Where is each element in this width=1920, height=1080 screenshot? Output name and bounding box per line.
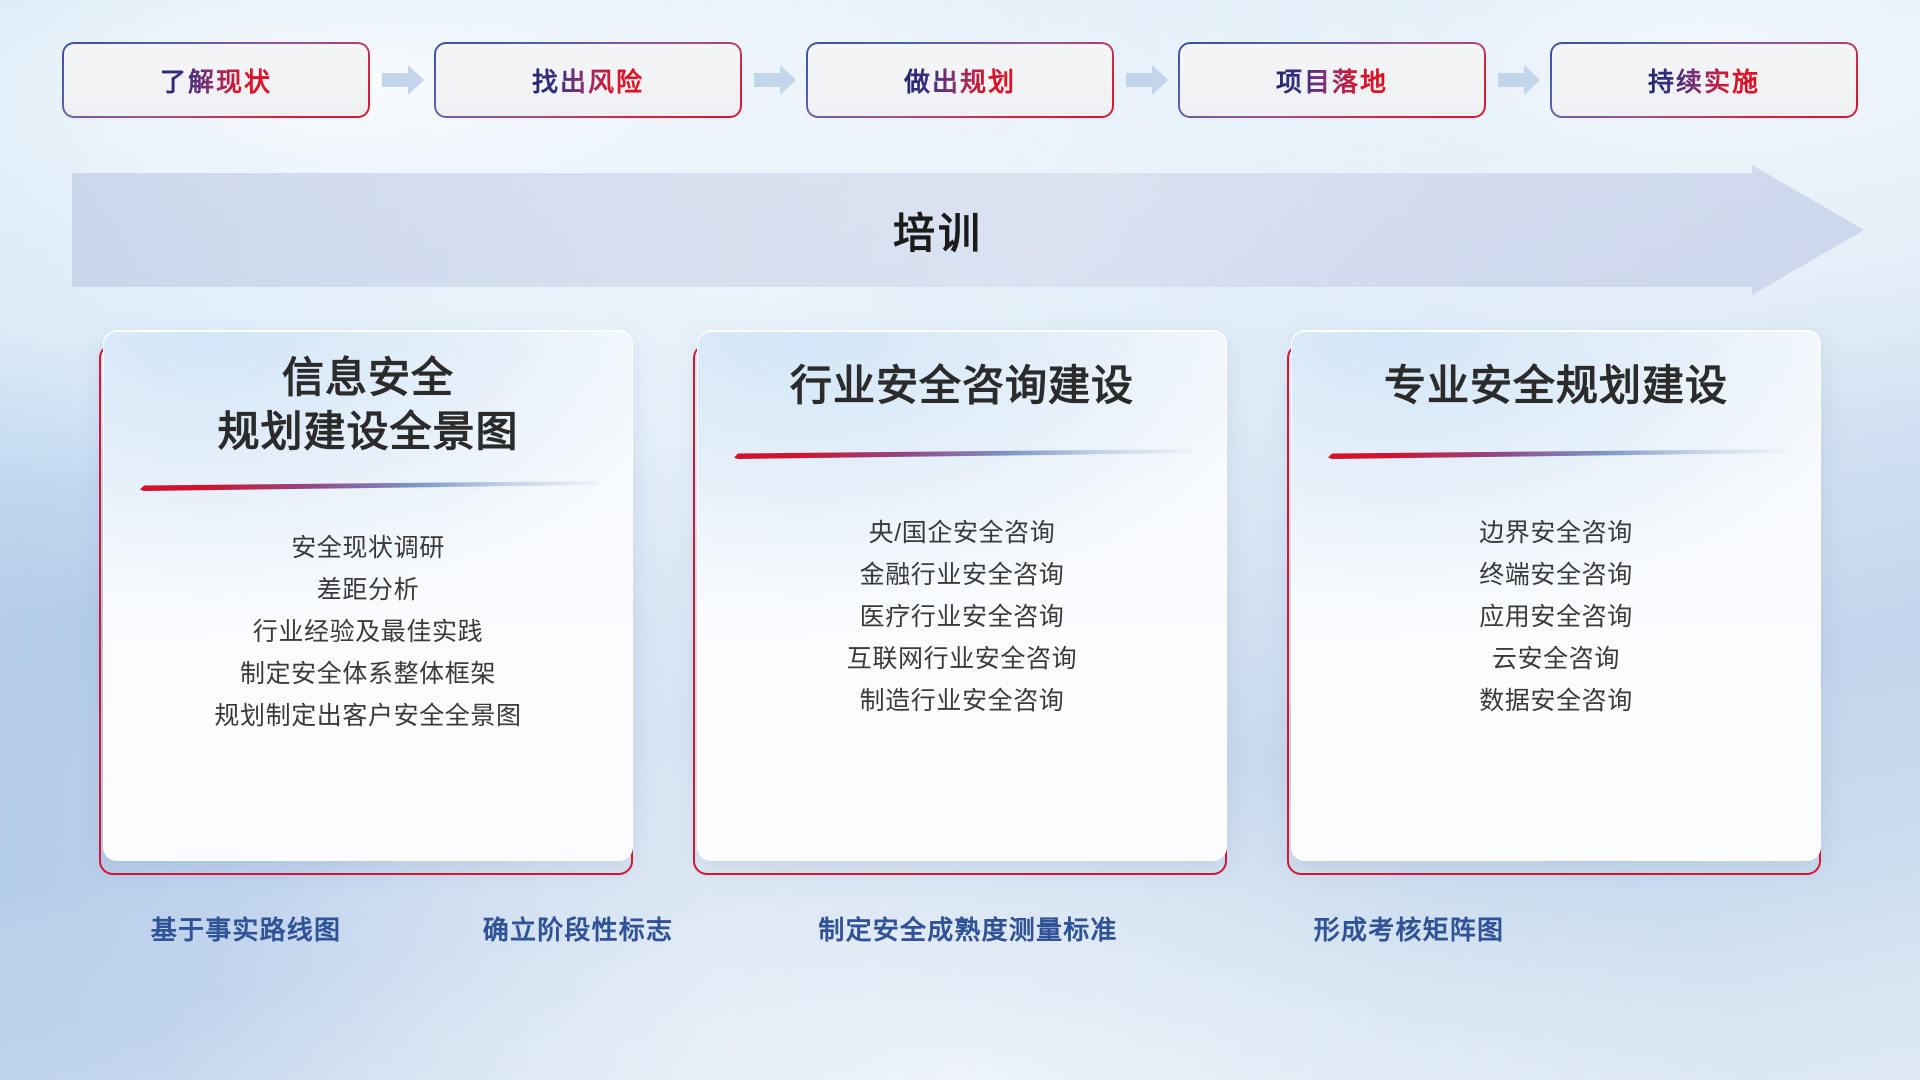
- card-divider: [140, 481, 598, 491]
- card-panel: 专业安全规划建设边界安全咨询终端安全咨询应用安全咨询云安全咨询数据安全咨询: [1291, 330, 1821, 861]
- card-list-item[interactable]: 行业经验及最佳实践: [104, 620, 632, 645]
- service-card-2[interactable]: 行业安全咨询建设央/国企安全咨询金融行业安全咨询医疗行业安全咨询互联网行业安全咨…: [693, 330, 1227, 875]
- arrow-right-icon: [1112, 60, 1180, 100]
- process-step-5[interactable]: 持续实施: [1552, 44, 1856, 116]
- arrow-right-icon: [368, 60, 436, 100]
- card-list-item[interactable]: 云安全咨询: [1292, 647, 1820, 672]
- service-card-1[interactable]: 信息安全规划建设全景图安全现状调研差距分析行业经验及最佳实践制定安全体系整体框架…: [99, 330, 633, 875]
- card-divider: [734, 449, 1192, 459]
- card-row: 信息安全规划建设全景图安全现状调研差距分析行业经验及最佳实践制定安全体系整体框架…: [0, 330, 1920, 890]
- card-list-item[interactable]: 金融行业安全咨询: [698, 563, 1226, 588]
- arrow-right-icon: [1484, 60, 1552, 100]
- card-list-item[interactable]: 医疗行业安全咨询: [698, 605, 1226, 630]
- card-list-item[interactable]: 安全现状调研: [104, 536, 632, 561]
- card-list-item[interactable]: 终端安全咨询: [1292, 563, 1820, 588]
- process-step-label: 做出规划: [904, 62, 1016, 99]
- card-list-item[interactable]: 边界安全咨询: [1292, 521, 1820, 546]
- process-step-row: 了解现状找出风险做出规划项目落地持续实施: [0, 0, 1920, 160]
- card-item-list: 央/国企安全咨询金融行业安全咨询医疗行业安全咨询互联网行业安全咨询制造行业安全咨…: [698, 521, 1226, 731]
- card-list-item[interactable]: 制造行业安全咨询: [698, 689, 1226, 714]
- training-banner: 培训: [72, 165, 1864, 295]
- card-list-item[interactable]: 互联网行业安全咨询: [698, 647, 1226, 672]
- process-step-label: 找出风险: [532, 62, 644, 99]
- card-list-item[interactable]: 应用安全咨询: [1292, 605, 1820, 630]
- process-step-label: 持续实施: [1648, 62, 1760, 99]
- caption-2: 确立阶段性标志: [483, 910, 673, 947]
- card-list-item[interactable]: 央/国企安全咨询: [698, 521, 1226, 546]
- process-step-4[interactable]: 项目落地: [1180, 44, 1484, 116]
- caption-1: 基于事实路线图: [151, 910, 341, 947]
- banner-title: 培训: [72, 165, 1864, 295]
- caption-row: 基于事实路线图确立阶段性标志制定安全成熟度测量标准形成考核矩阵图: [0, 910, 1920, 970]
- caption-4: 形成考核矩阵图: [1314, 910, 1504, 947]
- process-step-1[interactable]: 了解现状: [64, 44, 368, 116]
- card-title-line: 行业安全咨询建设: [720, 359, 1204, 413]
- arrow-right-icon: [740, 60, 808, 100]
- card-list-item[interactable]: 差距分析: [104, 578, 632, 603]
- card-item-list: 边界安全咨询终端安全咨询应用安全咨询云安全咨询数据安全咨询: [1292, 521, 1820, 731]
- card-item-list: 安全现状调研差距分析行业经验及最佳实践制定安全体系整体框架规划制定出客户安全全景…: [104, 536, 632, 746]
- card-title: 行业安全咨询建设: [698, 359, 1226, 413]
- card-title: 专业安全规划建设: [1292, 359, 1820, 413]
- card-title-line: 信息安全: [126, 351, 610, 405]
- card-title-line: 规划建设全景图: [126, 405, 610, 459]
- process-step-label: 了解现状: [160, 62, 272, 99]
- process-step-label: 项目落地: [1276, 62, 1388, 99]
- card-panel: 行业安全咨询建设央/国企安全咨询金融行业安全咨询医疗行业安全咨询互联网行业安全咨…: [697, 330, 1227, 861]
- process-step-3[interactable]: 做出规划: [808, 44, 1112, 116]
- card-panel: 信息安全规划建设全景图安全现状调研差距分析行业经验及最佳实践制定安全体系整体框架…: [103, 330, 633, 861]
- caption-3: 制定安全成熟度测量标准: [818, 910, 1117, 947]
- process-step-2[interactable]: 找出风险: [436, 44, 740, 116]
- card-title-line: 专业安全规划建设: [1314, 359, 1798, 413]
- card-divider: [1328, 449, 1786, 459]
- service-card-3[interactable]: 专业安全规划建设边界安全咨询终端安全咨询应用安全咨询云安全咨询数据安全咨询: [1287, 330, 1821, 875]
- card-title: 信息安全规划建设全景图: [104, 351, 632, 459]
- card-list-item[interactable]: 规划制定出客户安全全景图: [104, 704, 632, 729]
- card-list-item[interactable]: 制定安全体系整体框架: [104, 662, 632, 687]
- card-list-item[interactable]: 数据安全咨询: [1292, 689, 1820, 714]
